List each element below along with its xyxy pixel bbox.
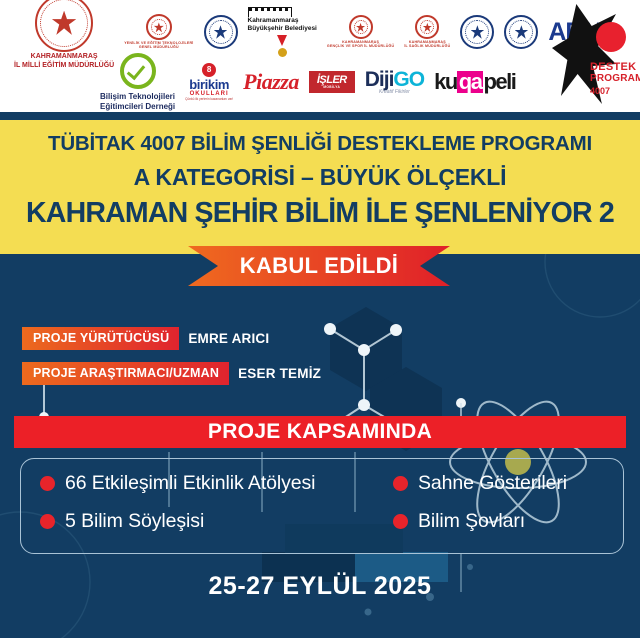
university-crest-icon bbox=[504, 15, 538, 49]
bullet-dot-icon bbox=[40, 514, 55, 529]
program-title-line2: A KATEGORİSİ – BÜYÜK ÖLÇEKLİ bbox=[0, 164, 640, 191]
city-wall-icon bbox=[248, 7, 292, 17]
ribbon-label: KABUL EDİLDİ bbox=[188, 246, 450, 286]
program-title-line1: TÜBİTAK 4007 BİLİM ŞENLİĞİ DESTEKLEME PR… bbox=[0, 132, 640, 156]
list-item-label: Bilim Şovları bbox=[418, 510, 525, 533]
sponsor-row-top: KAHRAMANMARAŞ İL MİLLİ EĞİTİM MÜDÜRLÜĞÜ … bbox=[14, 4, 626, 60]
dijigo-part2: GO bbox=[393, 68, 424, 91]
project-researcher-tag: PROJE ARAŞTIRMACI/UZMAN bbox=[22, 362, 229, 385]
kuqapeli-wordmark: ku qa peli bbox=[434, 71, 515, 93]
logo-il-saglik-mudurlugu: KAHRAMANMARAŞ İL SAĞLIK MÜDÜRLÜĞÜ bbox=[404, 15, 450, 48]
top-navy-strip bbox=[0, 112, 640, 120]
destek-line3: 4007 bbox=[590, 87, 610, 96]
kuqapeli-part2: qa bbox=[457, 71, 484, 93]
list-item-label: 66 Etkileşimli Etkinlik Atölyesi bbox=[65, 472, 315, 495]
logo-yenilik-egitim-teknolojileri: YENİLİK VE EĞİTİM TEKNOLOJİLERİ GENEL MÜ… bbox=[124, 14, 193, 49]
meb-small-crest-icon bbox=[146, 14, 172, 40]
logo-kahramanmaras-buyuksehir-belediyesi: Kahramanmaraş Büyükşehir Belediyesi bbox=[248, 7, 317, 57]
sponsor-row-bottom: Bilişim Teknolojileri Eğitimcileri Derne… bbox=[100, 56, 620, 108]
dijigo-wordmark: DijiGO bbox=[365, 69, 424, 90]
hexagon-shape-icon bbox=[330, 307, 402, 391]
list-item-label: 5 Bilim Söyleşisi bbox=[65, 510, 204, 533]
university-crest-icon bbox=[460, 15, 494, 49]
destek-line2: PROGRAMLARI bbox=[590, 74, 640, 84]
logo-istiklal-universitesi bbox=[504, 15, 538, 49]
logo-bilisim-teknolojileri-egitimcileri-dernegi: Bilişim Teknolojileri Eğitimcileri Derne… bbox=[100, 53, 175, 111]
destek-line1: DESTEK bbox=[590, 62, 636, 73]
project-researcher-row: PROJE ARAŞTIRMACI/UZMAN ESER TEMİZ bbox=[22, 362, 321, 385]
kuqapeli-part1: ku bbox=[434, 71, 457, 93]
dijigo-part1: Diji bbox=[365, 68, 394, 91]
project-leader-row: PROJE YÜRÜTÜCÜSÜ EMRE ARICI bbox=[22, 327, 269, 350]
isler-wordmark: İŞLER MOBİLYA bbox=[309, 71, 355, 93]
meb-crest-icon bbox=[35, 0, 93, 52]
project-title: KAHRAMAN ŞEHİR BİLİM İLE ŞENLENİYOR 2 bbox=[0, 197, 640, 230]
kuqapeli-part3: peli bbox=[483, 71, 515, 93]
section-header-proje-kapsaminda: PROJE KAPSAMINDA bbox=[14, 416, 626, 448]
sponsor-logo-strip: KAHRAMANMARAŞ İL MİLLİ EĞİTİM MÜDÜRLÜĞÜ … bbox=[0, 0, 640, 112]
birikim-mark-icon: 8 bbox=[202, 63, 216, 77]
scope-bullet-list: 66 Etkileşimli Etkinlik Atölyesi Sahne G… bbox=[20, 458, 622, 552]
bullet-dot-icon bbox=[393, 514, 408, 529]
logo-caption: KAHRAMANMARAŞ GENÇLİK VE SPOR İL MÜDÜRLÜ… bbox=[327, 41, 394, 48]
section-header-label: PROJE KAPSAMINDA bbox=[208, 420, 432, 444]
destek-circle-icon bbox=[596, 22, 626, 52]
poster-body: TÜBİTAK 4007 BİLİM ŞENLİĞİ DESTEKLEME PR… bbox=[0, 112, 640, 638]
meb-small-crest-icon bbox=[415, 15, 439, 39]
isler-sub: MOBİLYA bbox=[317, 86, 347, 89]
list-item: 66 Etkileşimli Etkinlik Atölyesi bbox=[40, 472, 315, 495]
logo-title: birikim bbox=[189, 79, 229, 91]
police-crest-icon bbox=[204, 15, 238, 49]
project-researcher-name: ESER TEMİZ bbox=[238, 366, 321, 381]
list-item: Bilim Şovları bbox=[393, 510, 525, 533]
piazza-wordmark: Piazza bbox=[243, 71, 299, 93]
bullet-dot-icon bbox=[40, 476, 55, 491]
logo-isler: İŞLER MOBİLYA bbox=[309, 71, 355, 93]
logo-dijigo: DijiGO Kreatif Fikirler bbox=[365, 69, 424, 95]
logo-emniyet-genel-mudurlugu bbox=[204, 15, 238, 49]
logo-ksu-universitesi bbox=[460, 15, 494, 49]
bullet-dot-icon bbox=[393, 476, 408, 491]
logo-caption: YENİLİK VE EĞİTİM TEKNOLOJİLERİ GENEL MÜ… bbox=[124, 42, 193, 49]
meb-small-crest-icon bbox=[349, 15, 373, 39]
project-leader-tag: PROJE YÜRÜTÜCÜSÜ bbox=[22, 327, 179, 350]
list-item: 5 Bilim Söyleşisi bbox=[40, 510, 204, 533]
medal-icon bbox=[277, 35, 288, 57]
title-band: TÜBİTAK 4007 BİLİM ŞENLİĞİ DESTEKLEME PR… bbox=[0, 120, 640, 254]
project-leader-name: EMRE ARICI bbox=[188, 331, 269, 346]
dijigo-tagline: Kreatif Fikirler bbox=[379, 90, 410, 95]
logo-piazza: Piazza bbox=[243, 71, 299, 93]
logo-caption: KAHRAMANMARAŞ İL SAĞLIK MÜDÜRLÜĞÜ bbox=[404, 41, 450, 48]
list-item-label: Sahne Gösterileri bbox=[418, 472, 567, 495]
checkmark-icon bbox=[120, 53, 156, 89]
logo-tagline: Çünkü ilk yerlerin kazananları var! bbox=[185, 98, 233, 101]
logo-genclik-spor-il-mudurlugu: KAHRAMANMARAŞ GENÇLİK VE SPOR İL MÜDÜRLÜ… bbox=[327, 15, 394, 48]
list-item: Sahne Gösterileri bbox=[393, 472, 567, 495]
logo-caption: Bilişim Teknolojileri Eğitimcileri Derne… bbox=[100, 92, 175, 111]
event-date: 25-27 EYLÜL 2025 bbox=[0, 572, 640, 601]
accepted-ribbon: KABUL EDİLDİ bbox=[188, 246, 450, 286]
logo-caption: Kahramanmaraş Büyükşehir Belediyesi bbox=[248, 17, 317, 33]
logo-birikim-okullari: 8 birikim OKULLARI Çünkü ilk yerlerin ka… bbox=[185, 63, 233, 102]
logo-kuqapeli: ku qa peli bbox=[434, 71, 515, 93]
poster: KAHRAMANMARAŞ İL MİLLİ EĞİTİM MÜDÜRLÜĞÜ … bbox=[0, 0, 640, 638]
logo-destek-programlari-4007: DESTEK PROGRAMLARI 4007 bbox=[552, 4, 638, 104]
